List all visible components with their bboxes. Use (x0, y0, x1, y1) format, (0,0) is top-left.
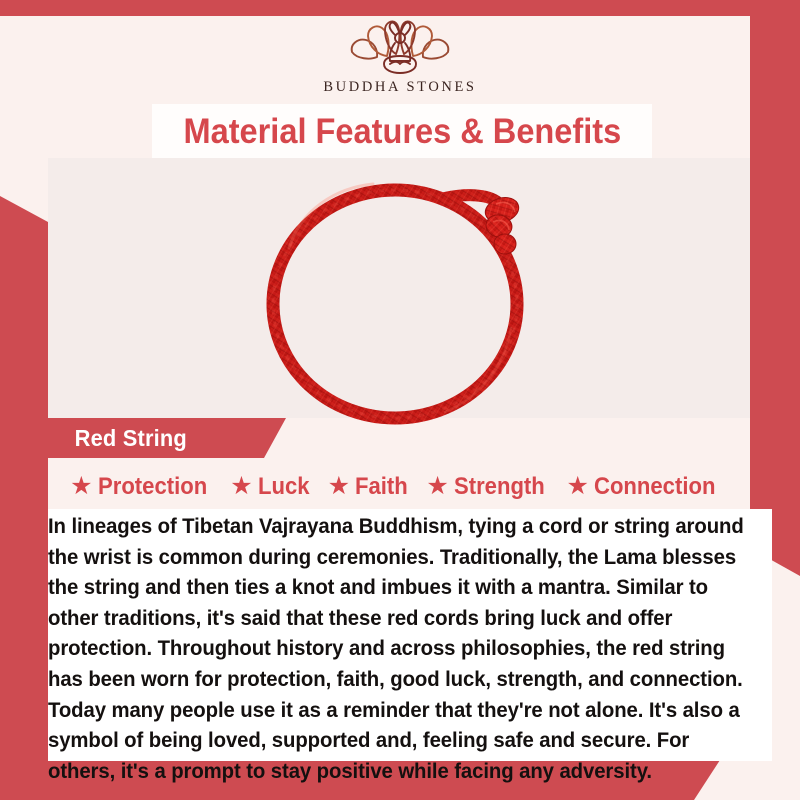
benefit-item-strength: ★ Strength (426, 475, 552, 500)
left-accent-strip (0, 196, 48, 760)
star-icon: ★ (566, 474, 588, 499)
star-icon: ★ (426, 474, 448, 499)
benefit-label: Luck (258, 475, 310, 499)
benefits-row: ★ Protection ★ Luck ★ Faith ★ Strength ★… (48, 465, 748, 509)
lotus-meditation-logo-icon (344, 16, 456, 78)
infographic-poster: BUDDHA STONES Material Features & Benefi… (0, 0, 800, 800)
star-icon: ★ (70, 474, 92, 499)
benefit-item-connection: ★ Connection (566, 475, 725, 500)
benefit-item-luck: ★ Luck (230, 475, 313, 500)
page-title: Material Features & Benefits (183, 114, 621, 149)
product-image-stage (48, 158, 750, 418)
description-text: In lineages of Tibetan Vajrayana Buddhis… (48, 511, 755, 786)
benefit-label: Connection (594, 475, 715, 499)
benefit-label: Faith (355, 475, 408, 499)
red-string-bracelet-image (249, 152, 549, 442)
benefit-label: Protection (98, 475, 207, 499)
benefit-item-faith: ★ Faith (328, 475, 413, 500)
brand-name: BUDDHA STONES (323, 79, 476, 96)
title-band: Material Features & Benefits (152, 104, 652, 158)
benefit-item-protection: ★ Protection (70, 475, 216, 500)
brand-logo: BUDDHA STONES (0, 16, 800, 104)
benefit-label: Strength (454, 475, 545, 499)
description-panel: In lineages of Tibetan Vajrayana Buddhis… (48, 509, 772, 761)
star-icon: ★ (230, 474, 252, 499)
top-accent-bar (0, 0, 800, 16)
star-icon: ★ (328, 474, 350, 499)
material-label-text: Red String (48, 425, 229, 452)
material-label-banner: Red String (48, 418, 286, 458)
